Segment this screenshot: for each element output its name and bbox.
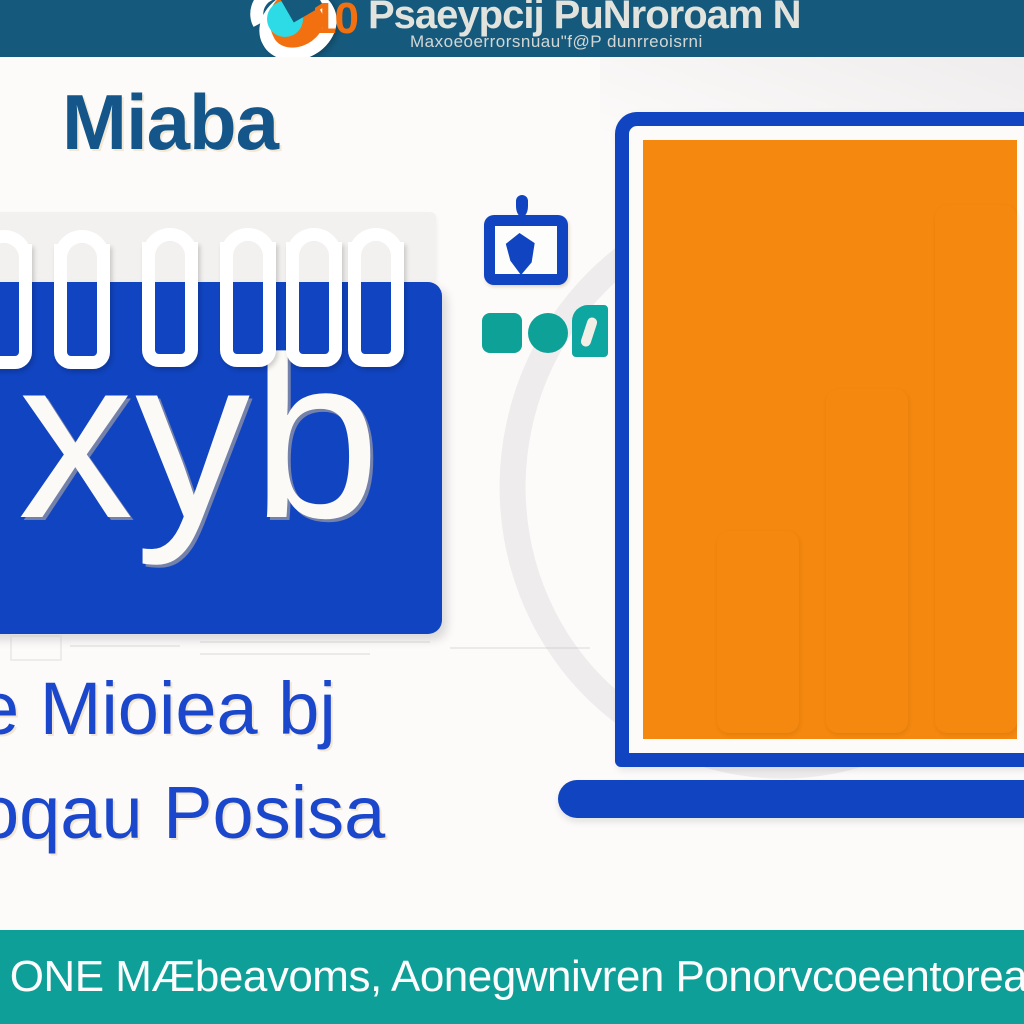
orange-swoosh-logo-icon xyxy=(258,0,318,52)
laptop-icon xyxy=(615,112,1024,847)
bar-chart xyxy=(643,140,1017,739)
spiral-ring xyxy=(142,242,198,367)
lower-text-block: e Mioiea bj oqau Posisa xyxy=(0,657,598,865)
page-body: Miaba xyb xyxy=(0,57,1024,930)
pen-badge-icon[interactable] xyxy=(572,305,608,357)
bar-1 xyxy=(717,531,799,733)
circle-shape-icon[interactable] xyxy=(528,313,568,353)
page-title: Miaba xyxy=(62,77,278,168)
laptop-base xyxy=(558,780,1024,818)
poster-canvas: 10 Psaeypcij PuNroroam N Maxoeoerrorsnua… xyxy=(0,0,1024,1024)
banner-content: 10 Psaeypcij PuNroroam N Maxoeoerrorsnua… xyxy=(250,0,1024,57)
spiral-ring xyxy=(220,242,276,367)
spiral-ring xyxy=(286,242,342,367)
laptop-screen xyxy=(615,112,1024,767)
banner-number: 10 xyxy=(312,0,357,44)
square-shape-icon[interactable] xyxy=(482,313,522,353)
top-banner: 10 Psaeypcij PuNroroam N Maxoeoerrorsnua… xyxy=(0,0,1024,57)
map-pin-icon xyxy=(516,195,528,217)
footer-text: e ONE MÆbeavoms, Aonegwnivren Ponorvcoee… xyxy=(0,954,1024,1000)
footer-bar: e ONE MÆbeavoms, Aonegwnivren Ponorvcoee… xyxy=(0,930,1024,1024)
spiral-ring xyxy=(348,242,404,367)
spiral-notebook-card: xyb xyxy=(0,184,446,642)
banner-subtitle: Maxoeoerrorsnuau"f@P dunrreoisrni xyxy=(410,32,703,52)
spiral-ring xyxy=(54,244,110,369)
lower-text-line-1: e Mioiea bj xyxy=(0,657,598,761)
icon-group xyxy=(478,155,608,375)
bar-3 xyxy=(935,205,1017,733)
lower-text-line-2: oqau Posisa xyxy=(0,761,598,865)
spiral-ring xyxy=(0,244,32,369)
bar-2 xyxy=(826,389,908,733)
